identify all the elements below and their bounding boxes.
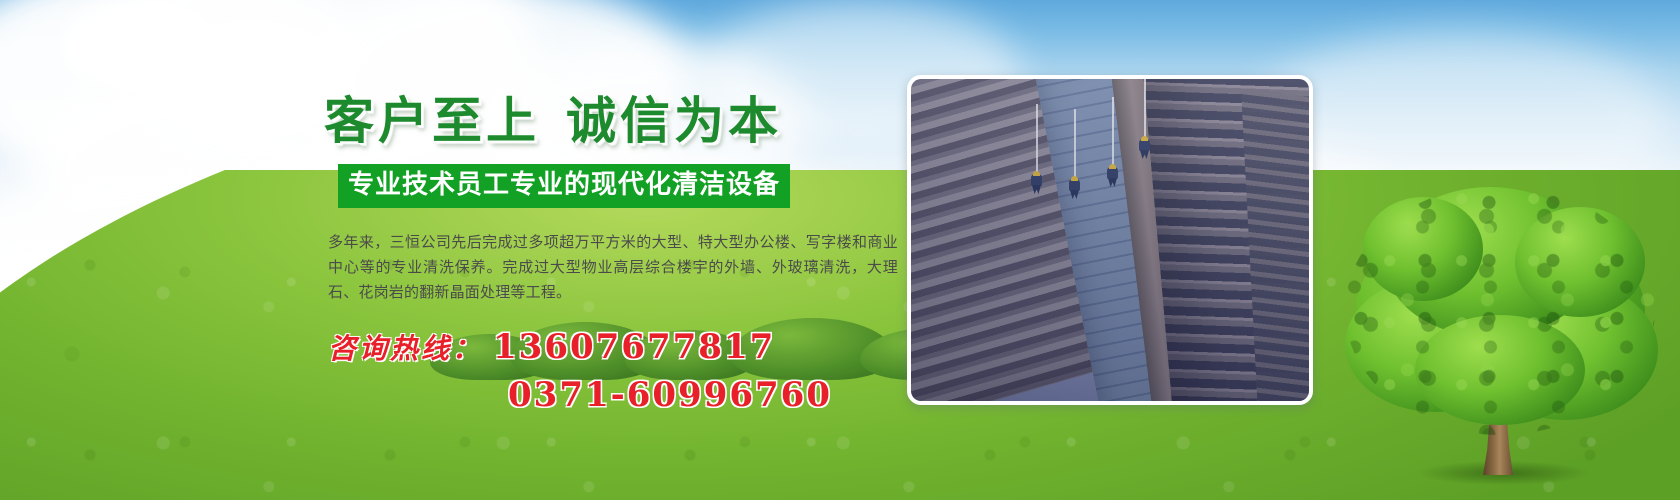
rope-access-worker (1069, 179, 1080, 199)
building-facade-photo (911, 79, 1309, 401)
hotline-row: 咨询热线：13607677817 (328, 327, 918, 367)
worker-rope (1144, 79, 1146, 141)
worker-helmet (1033, 171, 1040, 176)
rope-access-worker (1139, 139, 1150, 159)
photo-card (907, 75, 1313, 405)
promo-banner: 客户至上诚信为本 专业技术员工专业的现代化清洁设备 多年来，三恒公司先后完成过多… (0, 0, 1680, 500)
hotline-label: 咨询热线： (328, 332, 483, 365)
worker-legs (1108, 178, 1117, 187)
description-paragraph: 多年来，三恒公司先后完成过多项超万平方米的大型、特大型办公楼、写字楼和商业中心等… (328, 230, 898, 305)
worker-legs (1070, 190, 1079, 199)
headline: 客户至上诚信为本 (318, 96, 918, 146)
worker-rope (1112, 97, 1114, 169)
headline-part-1: 客户至上 (324, 91, 540, 150)
banner-copy-block: 客户至上诚信为本 专业技术员工专业的现代化清洁设备 多年来，三恒公司先后完成过多… (318, 96, 918, 415)
worker-rope (1074, 109, 1076, 181)
rope-access-worker (1031, 174, 1042, 194)
headline-part-2: 诚信为本 (566, 91, 782, 150)
hotline-primary-number[interactable]: 13607677817 (493, 327, 775, 367)
foreground-tree (1345, 185, 1655, 485)
worker-helmet (1109, 164, 1116, 169)
subheading-green-bar: 专业技术员工专业的现代化清洁设备 (338, 164, 790, 208)
worker-rope (1036, 104, 1038, 176)
cloud-shape (60, 0, 220, 90)
worker-helmet (1071, 176, 1078, 181)
hotline-secondary-number[interactable]: 0371-60996760 (508, 375, 918, 415)
worker-legs (1032, 185, 1041, 194)
worker-helmet (1141, 136, 1148, 141)
worker-legs (1140, 150, 1149, 159)
rope-access-worker (1107, 167, 1118, 187)
tree-leaf-texture (1345, 185, 1655, 435)
